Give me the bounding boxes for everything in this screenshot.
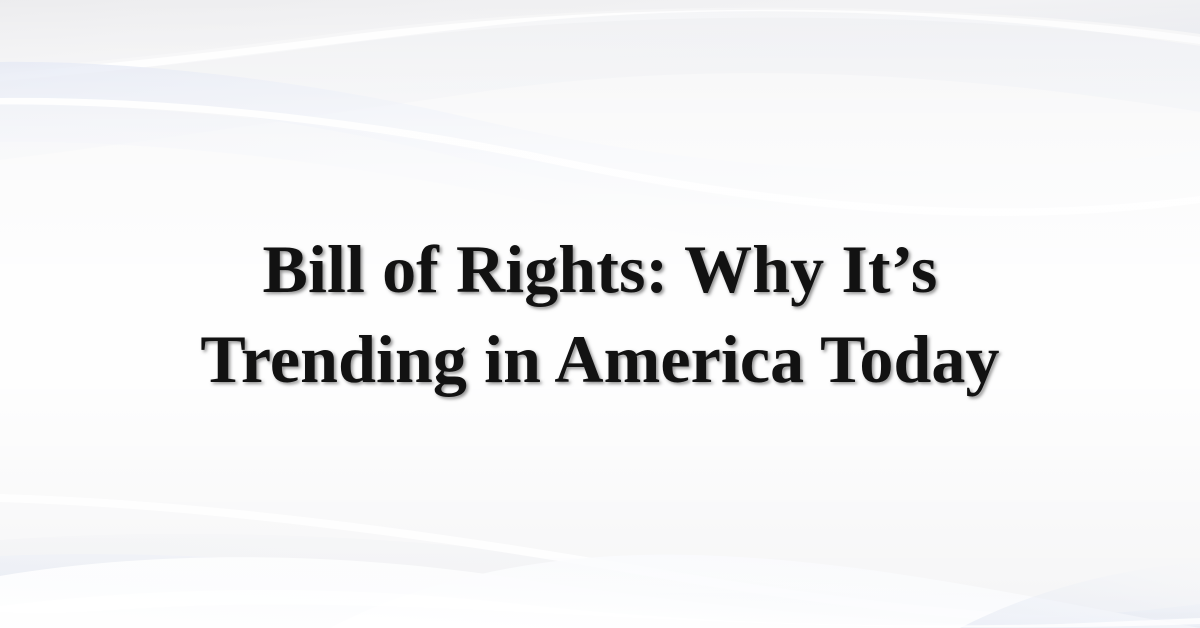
page-title-line-1: Bill of Rights: Why It’s xyxy=(200,224,999,314)
page-title-line-2: Trending in America Today xyxy=(200,314,999,404)
og-card: Bill of Rights: Why It’s Trending in Ame… xyxy=(0,0,1200,628)
page-title: Bill of Rights: Why It’s Trending in Ame… xyxy=(200,224,999,405)
content-area: Bill of Rights: Why It’s Trending in Ame… xyxy=(0,0,1200,628)
